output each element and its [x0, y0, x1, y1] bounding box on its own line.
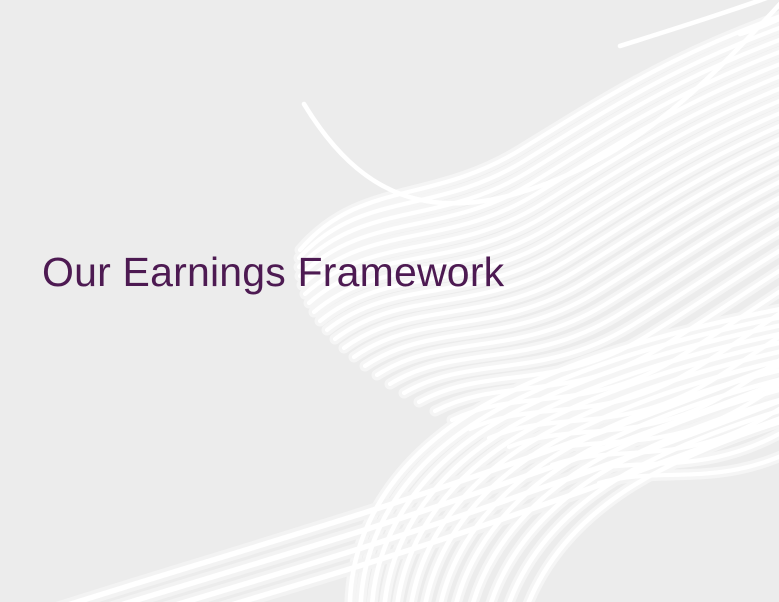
ribbon-edge-arcs — [304, 0, 779, 203]
ribbon-soft-band-upper — [299, 0, 779, 483]
page-title: Our Earnings Framework — [42, 246, 504, 298]
ribbon-swirl-graphic — [0, 0, 779, 602]
ribbon-soft-band-tail — [0, 318, 779, 602]
ribbon-soft-band-lower — [350, 290, 779, 602]
ribbon-stripes-tail — [0, 318, 779, 602]
slide-canvas: Our Earnings Framework — [0, 0, 779, 602]
ribbon-stripes-lower — [350, 290, 779, 602]
ribbon-stripes-upper — [299, 0, 779, 483]
